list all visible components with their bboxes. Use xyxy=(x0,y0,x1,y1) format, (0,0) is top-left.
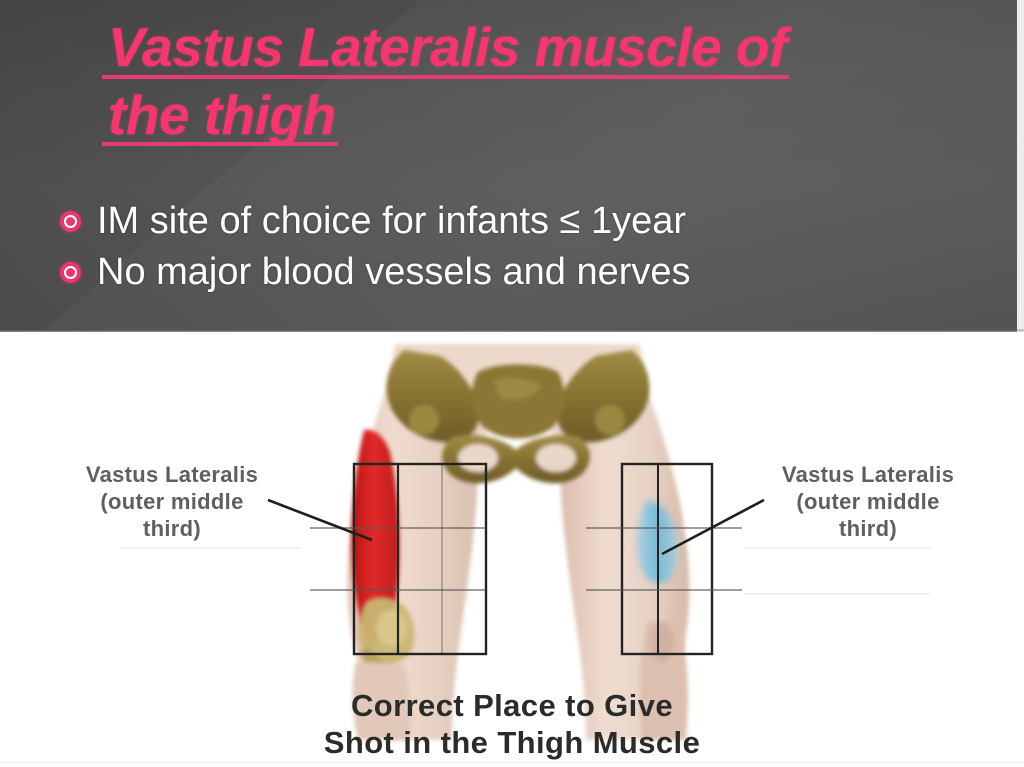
bullet-target-icon xyxy=(60,262,81,283)
figure-bottom-rule xyxy=(0,762,1024,763)
label-vastus-lateralis-right: Vastus Lateralis (outer middle third) xyxy=(718,462,1018,542)
label-left-line-3: third) xyxy=(22,516,322,543)
label-left-line-1: Vastus Lateralis xyxy=(22,462,322,489)
label-left-line-2: (outer middle xyxy=(22,489,322,516)
bullet-text: IM site of choice for infants ≤ 1year xyxy=(97,200,686,243)
slide-bullet-list: IM site of choice for infants ≤ 1year No… xyxy=(60,196,980,298)
list-item: No major blood vessels and nerves xyxy=(60,247,980,298)
list-item: IM site of choice for infants ≤ 1year xyxy=(60,196,980,247)
label-vastus-lateralis-left: Vastus Lateralis (outer middle third) xyxy=(22,462,322,542)
bullet-target-icon xyxy=(60,211,81,232)
label-right-line-2: (outer middle xyxy=(718,489,1018,516)
figure-caption-line-2: Shot in the Thigh Muscle xyxy=(0,724,1024,761)
slide-title: Vastus Lateralis muscle of the thigh xyxy=(108,14,968,149)
slide-title-line-2: the thigh xyxy=(108,82,336,150)
slide-title-line-1: Vastus Lateralis muscle of xyxy=(108,14,787,82)
label-right-line-1: Vastus Lateralis xyxy=(718,462,1018,489)
presentation-slide: Vastus Lateralis muscle of the thigh IM … xyxy=(0,0,1024,767)
bullet-text: No major blood vessels and nerves xyxy=(97,251,691,294)
anatomy-figure: Vastus Lateralis (outer middle third) Va… xyxy=(0,332,1024,767)
figure-caption-line-1: Correct Place to Give xyxy=(0,687,1024,724)
right-edge-strip xyxy=(1017,0,1024,332)
figure-caption: Correct Place to Give Shot in the Thigh … xyxy=(0,687,1024,761)
label-right-line-3: third) xyxy=(718,516,1018,543)
